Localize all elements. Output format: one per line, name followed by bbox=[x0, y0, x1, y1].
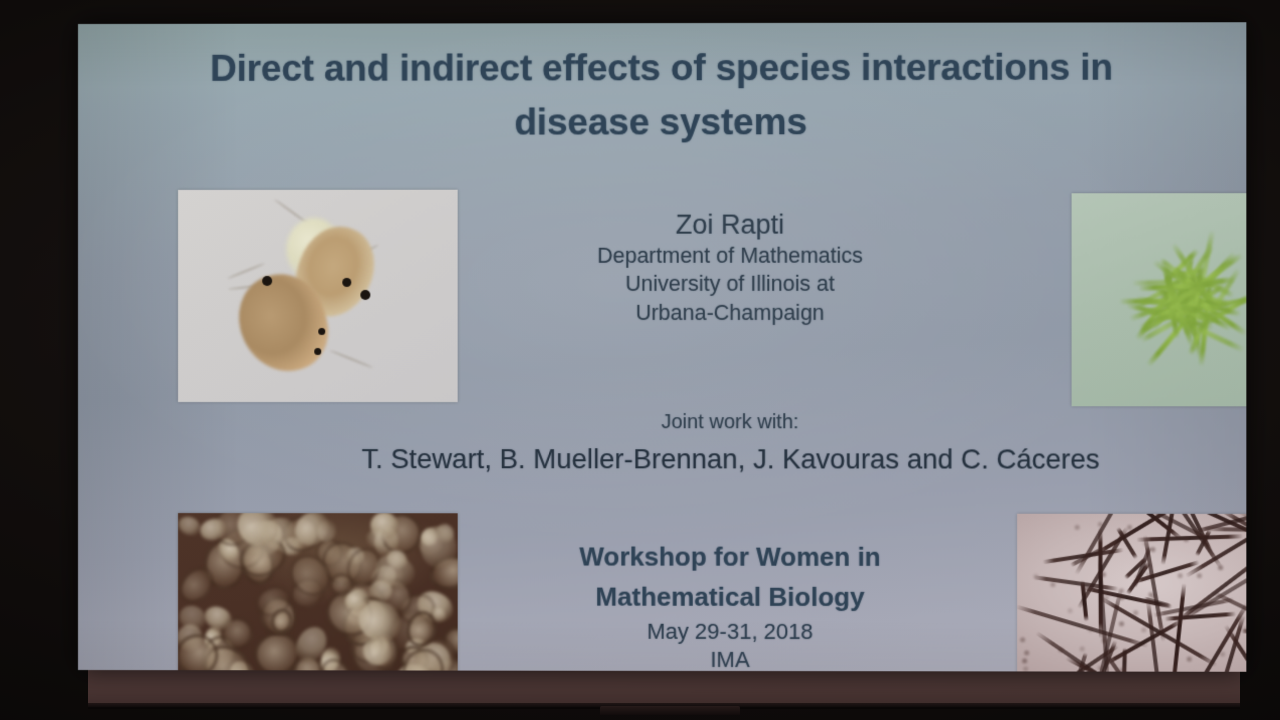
needle-speckle bbox=[1220, 651, 1225, 656]
needle-speckle bbox=[1187, 656, 1192, 661]
event-title-line2: Mathematical Biology bbox=[408, 577, 1052, 618]
needle-speckle bbox=[1020, 638, 1025, 643]
needle-speckle bbox=[1022, 658, 1027, 663]
podium-silhouette bbox=[600, 706, 740, 715]
author-name: Zoi Rapti bbox=[408, 207, 1052, 241]
brown-spore-field-image bbox=[178, 513, 458, 672]
event-title-line1: Workshop for Women in bbox=[408, 537, 1052, 578]
author-department: Department of Mathematics bbox=[408, 242, 1052, 271]
needle-speckle bbox=[1023, 666, 1028, 671]
needle-group bbox=[1017, 514, 1246, 672]
green-algae-image bbox=[1072, 193, 1247, 406]
projection-screen: Direct and indirect effects of species i… bbox=[78, 22, 1246, 672]
needle-speckle bbox=[1147, 563, 1152, 568]
needle-speckle bbox=[1119, 588, 1124, 593]
needle-speckle bbox=[1110, 542, 1115, 547]
needle-spore bbox=[1214, 614, 1246, 672]
projected-slide-photo: Direct and indirect effects of species i… bbox=[0, 0, 1280, 720]
needle-speckle bbox=[1075, 525, 1080, 530]
needle-spores-image bbox=[1017, 514, 1246, 672]
event-date: May 29-31, 2018 bbox=[408, 617, 1052, 647]
daphnia-eye-spot bbox=[318, 328, 325, 335]
daphnia-eye-spot bbox=[314, 348, 321, 355]
needle-speckle bbox=[1151, 595, 1156, 600]
algae-filament-group bbox=[1072, 193, 1247, 406]
collaborator-names: T. Stewart, B. Mueller-Brennan, J. Kavou… bbox=[218, 443, 1244, 476]
presentation-slide: Direct and indirect effects of species i… bbox=[78, 22, 1246, 672]
needle-speckle bbox=[1178, 573, 1183, 578]
needle-speckle bbox=[1151, 547, 1156, 552]
needle-speckle bbox=[1024, 650, 1029, 655]
needle-speckle bbox=[1068, 608, 1073, 613]
needle-speckle bbox=[1120, 667, 1125, 672]
author-university-line1: University of Illinois at bbox=[408, 270, 1052, 299]
needle-speckle bbox=[1079, 646, 1084, 651]
needle-speckle bbox=[1244, 627, 1247, 632]
slide-title: Direct and indirect effects of species i… bbox=[138, 40, 1186, 150]
needle-spore bbox=[1035, 631, 1152, 672]
needle-speckle bbox=[1141, 627, 1146, 632]
daphnia-antenna bbox=[330, 349, 374, 368]
needle-spore bbox=[1164, 612, 1236, 621]
joint-work-label: Joint work with: bbox=[408, 411, 1052, 434]
daphnia-eye-spot bbox=[262, 276, 272, 286]
daphnia-eye-spot bbox=[360, 290, 370, 300]
event-block: Workshop for Women in Mathematical Biolo… bbox=[408, 537, 1052, 671]
wall-band-below-screen bbox=[88, 668, 1240, 707]
event-venue: IMA bbox=[408, 646, 1052, 672]
needle-speckle bbox=[1088, 628, 1093, 633]
needle-speckle bbox=[1101, 572, 1106, 577]
needle-speckle bbox=[1119, 621, 1124, 626]
needle-speckle bbox=[1183, 537, 1188, 542]
spore-group bbox=[178, 513, 458, 672]
daphnia-eye-spot bbox=[342, 278, 351, 287]
needle-spore bbox=[1034, 576, 1119, 592]
author-university-line2: Urbana-Champaign bbox=[408, 299, 1052, 328]
needle-speckle bbox=[1051, 582, 1056, 587]
daphnia-antenna bbox=[227, 263, 265, 280]
needle-speckle bbox=[1119, 596, 1124, 601]
needle-speckle bbox=[1097, 665, 1102, 670]
needle-speckle bbox=[1103, 595, 1108, 600]
needle-speckle bbox=[1197, 573, 1202, 578]
needle-speckle bbox=[1134, 644, 1139, 649]
author-block: Zoi Rapti Department of Mathematics Univ… bbox=[408, 207, 1052, 327]
needle-spore bbox=[1136, 535, 1243, 543]
needle-speckle bbox=[1143, 541, 1148, 546]
needle-spore bbox=[1098, 527, 1103, 639]
needle-speckle bbox=[1218, 565, 1223, 570]
needle-speckle bbox=[1133, 610, 1138, 615]
needle-speckle bbox=[1233, 633, 1238, 638]
daphnia-microscopy-image bbox=[178, 190, 458, 402]
